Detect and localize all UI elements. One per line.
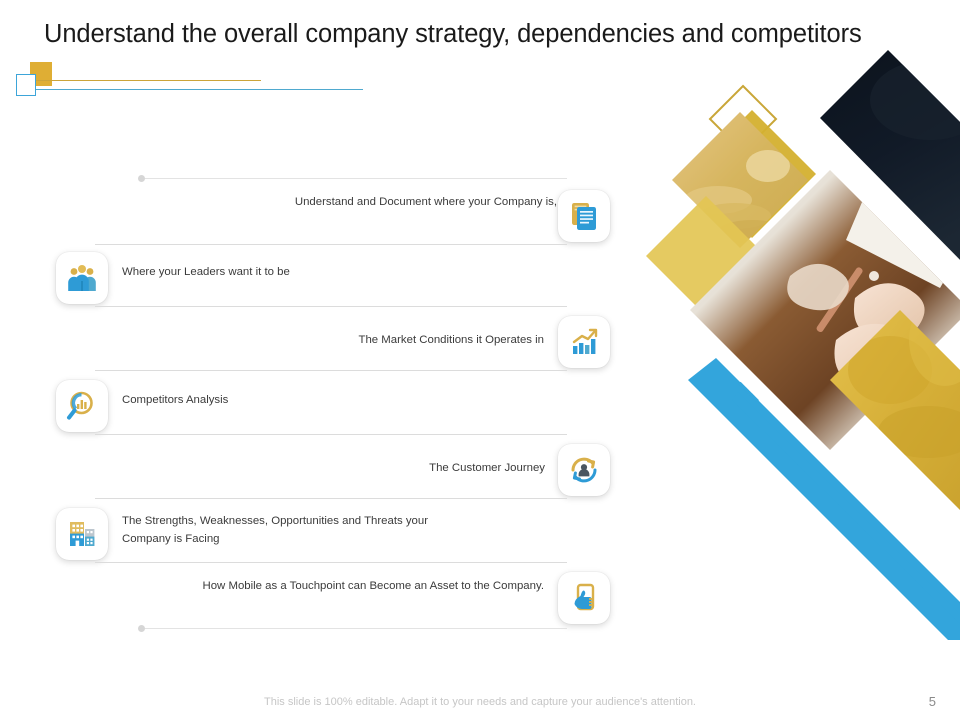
buildings-icon[interactable] [56, 508, 108, 560]
slide-canvas: Understand the overall company strategy,… [0, 0, 960, 720]
footer-note: This slide is 100% editable. Adapt it to… [0, 696, 960, 708]
content-list: Understand and Document where your Compa… [0, 0, 660, 720]
customer-cycle-icon[interactable] [558, 444, 610, 496]
magnifier-chart-icon[interactable] [56, 380, 108, 432]
list-item-label: The Market Conditions it Operates in [200, 332, 544, 350]
list-item-label: The Customer Journey [230, 460, 545, 478]
list-top-rule [142, 178, 567, 179]
people-group-icon[interactable] [56, 252, 108, 304]
list-item-label: Understand and Document where your Compa… [200, 194, 557, 212]
collage-graphic [640, 40, 960, 640]
list-item-label: Where your Leaders want it to be [122, 264, 522, 282]
list-item-rule [95, 498, 567, 499]
list-item-rule [95, 434, 567, 435]
list-bottom-rule [142, 628, 567, 629]
photo-collage [640, 40, 960, 640]
list-top-dot-icon [138, 175, 145, 182]
list-item-label: Competitors Analysis [122, 392, 522, 410]
list-item-rule [95, 244, 567, 245]
list-bottom-dot-icon [138, 625, 145, 632]
growth-chart-icon[interactable] [558, 316, 610, 368]
page-number: 5 [929, 694, 936, 709]
list-item-rule [95, 306, 567, 307]
list-item-rule [95, 562, 567, 563]
list-item-label: How Mobile as a Touchpoint can Become an… [200, 578, 544, 596]
list-item-label: The Strengths, Weaknesses, Opportunities… [122, 513, 452, 548]
list-item-rule [95, 370, 567, 371]
mobile-touch-icon[interactable] [558, 572, 610, 624]
documents-icon[interactable] [558, 190, 610, 242]
